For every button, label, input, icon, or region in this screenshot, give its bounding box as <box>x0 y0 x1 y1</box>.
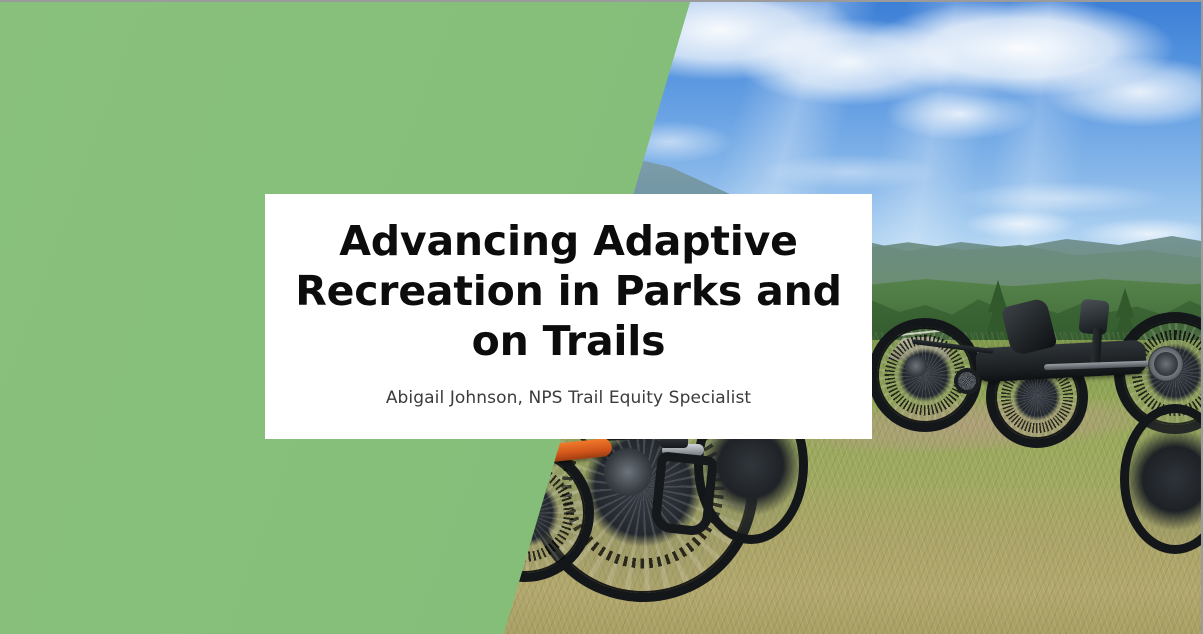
handcycle-foot-stirrup <box>650 451 718 537</box>
wheel-hub <box>604 448 652 496</box>
slide-subtitle: Abigail Johnson, NPS Trail Equity Specia… <box>289 388 849 408</box>
slide-title: Advancing Adaptive Recreation in Parks a… <box>289 216 849 366</box>
title-card: Advancing Adaptive Recreation in Parks a… <box>265 194 872 439</box>
presentation-slide: Advancing Adaptive Recreation in Parks a… <box>0 0 1203 634</box>
handcycle-cogset <box>954 368 980 394</box>
wheel-hub <box>1154 352 1178 376</box>
wheel-hub <box>905 355 927 377</box>
